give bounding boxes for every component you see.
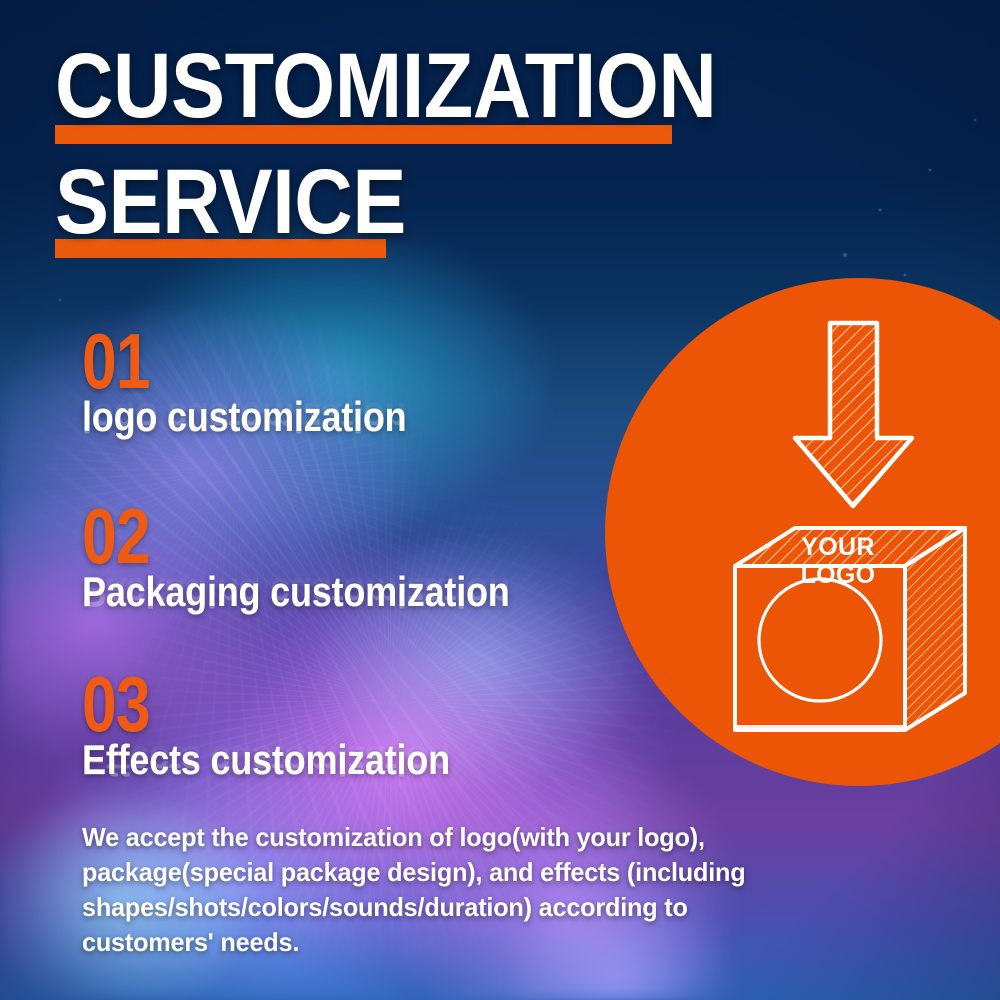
feature-label-wrapper: logo customization logo customization	[82, 396, 459, 438]
feature-label: Packaging customization	[82, 571, 510, 613]
logo-placeholder-text: YOUR LOGO	[788, 533, 888, 589]
logo-placeholder-line-2: LOGO	[788, 561, 888, 589]
feature-label: logo customization	[82, 396, 406, 438]
logo-placeholder-line-1: YOUR	[788, 533, 888, 561]
feature-number: 01	[82, 330, 384, 394]
feature-label-wrapper: Effects customization Effects customizat…	[82, 739, 510, 781]
feature-label: Effects customization	[82, 739, 450, 781]
title-line-primary: CUSTOMIZATION	[55, 42, 716, 131]
feature-item-03: 03 Effects customization Effects customi…	[82, 673, 510, 781]
feature-item-02: 02 Packaging customization Packaging cus…	[82, 505, 579, 613]
down-arrow-icon	[795, 323, 912, 506]
feature-item-01: 01 logo customization logo customization	[82, 330, 459, 438]
logo-placeholder-circle	[759, 579, 881, 701]
feature-number: 03	[82, 673, 424, 737]
packaging-illustration	[605, 278, 1000, 786]
feature-number: 02	[82, 505, 480, 569]
page-title: CUSTOMIZATION SERVICE	[55, 42, 807, 258]
customization-service-banner: CUSTOMIZATION SERVICE 01 logo customizat…	[0, 0, 1000, 1000]
feature-label-wrapper: Packaging customization Packaging custom…	[82, 571, 579, 613]
body-description: We accept the customization of logo(with…	[82, 820, 819, 960]
title-line-secondary: SERVICE	[55, 158, 716, 247]
